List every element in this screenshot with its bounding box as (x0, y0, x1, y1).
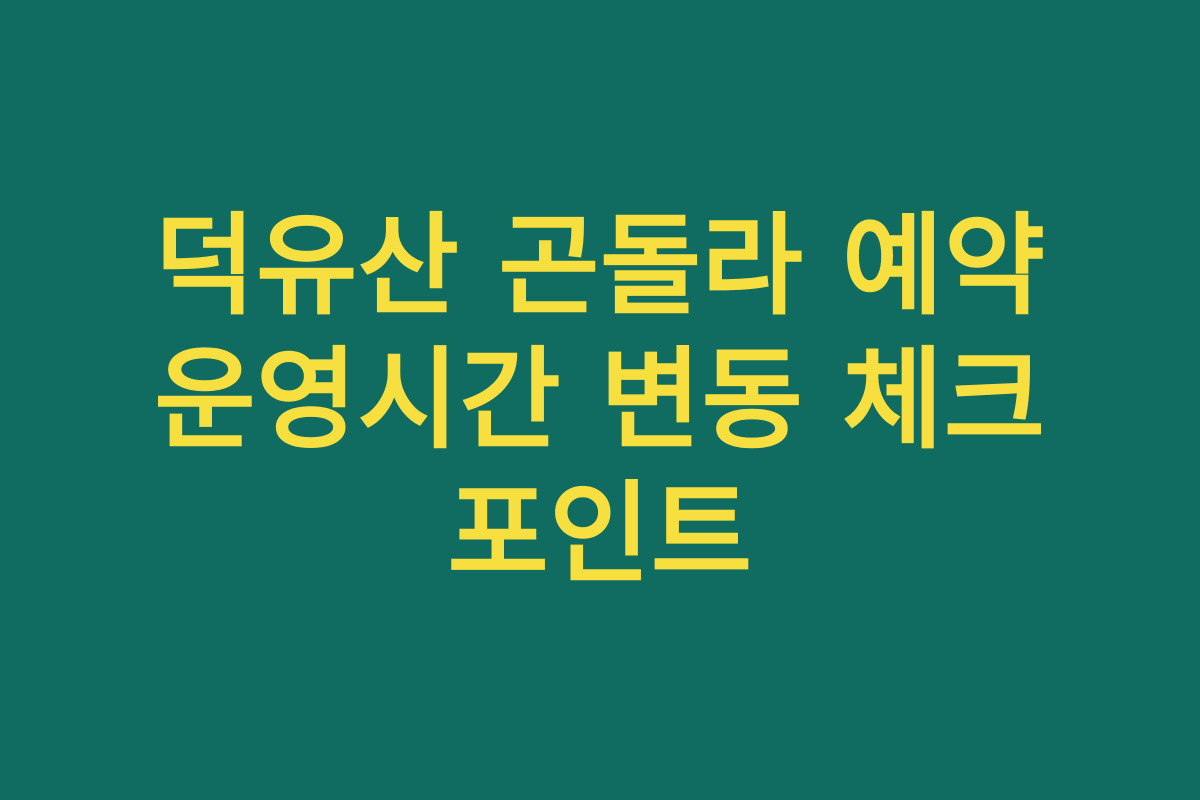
thumbnail-canvas: 덕유산 곤돌라 예약 운영시간 변동 체크 포인트 (0, 0, 1200, 800)
page-title: 덕유산 곤돌라 예약 운영시간 변동 체크 포인트 (87, 199, 1113, 602)
